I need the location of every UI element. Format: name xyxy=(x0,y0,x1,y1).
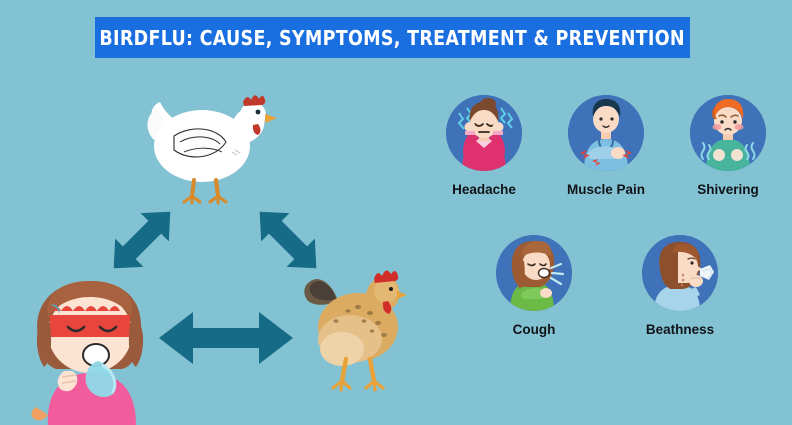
arrow-girl-to-brown-chicken xyxy=(155,307,297,369)
sick-girl-illustration xyxy=(18,275,163,425)
symptom-label: Shivering xyxy=(697,182,759,197)
breathless-icon xyxy=(642,235,718,311)
symptom-breathlessness[interactable]: Beathness xyxy=(628,235,732,337)
symptoms-row-bottom: Cough xyxy=(482,235,732,337)
symptom-label: Beathness xyxy=(646,322,714,337)
symptoms-row-top: Headache xyxy=(420,95,792,197)
title-banner: BIRDFLU: CAUSE, SYMPTOMS, TREATMENT & PR… xyxy=(95,17,690,58)
birdflu-infographic: BIRDFLU: CAUSE, SYMPTOMS, TREATMENT & PR… xyxy=(0,0,792,425)
symptom-label: Muscle Pain xyxy=(567,182,645,197)
muscle-pain-icon xyxy=(568,95,644,171)
symptom-label: Headache xyxy=(452,182,516,197)
headache-icon xyxy=(446,95,522,171)
page-title: BIRDFLU: CAUSE, SYMPTOMS, TREATMENT & PR… xyxy=(100,26,685,50)
symptoms-panel: Headache xyxy=(420,95,792,385)
symptom-muscle-pain[interactable]: Muscle Pain xyxy=(554,95,658,197)
symptom-label: Cough xyxy=(513,322,556,337)
cough-icon xyxy=(496,235,572,311)
shivering-icon xyxy=(690,95,766,171)
symptom-shivering[interactable]: Shivering xyxy=(676,95,780,197)
transmission-diagram xyxy=(0,70,420,425)
symptom-headache[interactable]: Headache xyxy=(432,95,536,197)
arrow-girl-to-white-chicken xyxy=(92,190,192,290)
symptom-cough[interactable]: Cough xyxy=(482,235,586,337)
arrow-white-chicken-to-brown-chicken xyxy=(238,190,338,290)
